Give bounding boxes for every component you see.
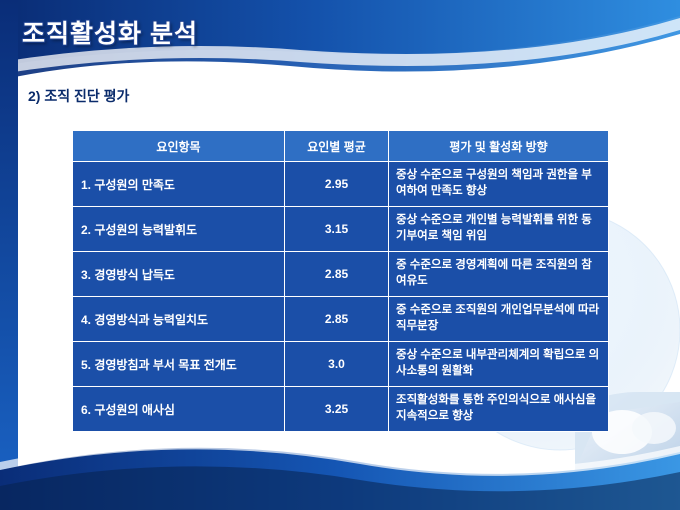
cell-average: 2.85 (285, 297, 389, 342)
table-row: 5. 경영방침과 부서 목표 전개도 3.0 중상 수준으로 내부관리체계의 확… (73, 342, 609, 387)
table-row: 6. 구성원의 애사심 3.25 조직활성화를 통한 주인의식으로 애사심을 지… (73, 387, 609, 432)
cell-direction: 조직활성화를 통한 주인의식으로 애사심을 지속적으로 향상 (389, 387, 609, 432)
table-row: 3. 경영방식 납득도 2.85 중 수준으로 경영계획에 따른 조직원의 참여… (73, 252, 609, 297)
evaluation-table: 요인항목 요인별 평균 평가 및 활성화 방향 1. 구성원의 만족도 2.95… (72, 130, 609, 432)
cell-direction: 중상 수준으로 개인별 능력발휘를 위한 동기부여로 책임 위임 (389, 207, 609, 252)
slide: 조직활성화 분석 2) 조직 진단 평가 요인항목 요인별 평균 평가 및 활성… (0, 0, 680, 510)
table-header-factor: 요인항목 (73, 131, 285, 162)
cell-factor: 5. 경영방침과 부서 목표 전개도 (73, 342, 285, 387)
table-row: 4. 경영방식과 능력일치도 2.85 중 수준으로 조직원의 개인업무분석에 … (73, 297, 609, 342)
cell-direction: 중상 수준으로 내부관리체계의 확립으로 의사소통의 원활화 (389, 342, 609, 387)
table-header-average: 요인별 평균 (285, 131, 389, 162)
page-title: 조직활성화 분석 (22, 14, 198, 50)
cell-factor: 4. 경영방식과 능력일치도 (73, 297, 285, 342)
cell-average: 3.15 (285, 207, 389, 252)
cell-factor: 1. 구성원의 만족도 (73, 162, 285, 207)
section-subtitle: 2) 조직 진단 평가 (28, 86, 129, 106)
cell-factor: 3. 경영방식 납득도 (73, 252, 285, 297)
evaluation-table-wrapper: 요인항목 요인별 평균 평가 및 활성화 방향 1. 구성원의 만족도 2.95… (72, 130, 608, 432)
table-header-direction: 평가 및 활성화 방향 (389, 131, 609, 162)
cell-average: 3.25 (285, 387, 389, 432)
table-row: 1. 구성원의 만족도 2.95 중상 수준으로 구성원의 책임과 권한을 부여… (73, 162, 609, 207)
cell-direction: 중 수준으로 조직원의 개인업무분석에 따라 직무분장 (389, 297, 609, 342)
cell-average: 2.95 (285, 162, 389, 207)
cell-factor: 6. 구성원의 애사심 (73, 387, 285, 432)
cell-average: 2.85 (285, 252, 389, 297)
cell-average: 3.0 (285, 342, 389, 387)
table-row: 2. 구성원의 능력발휘도 3.15 중상 수준으로 개인별 능력발휘를 위한 … (73, 207, 609, 252)
table-header-row: 요인항목 요인별 평균 평가 및 활성화 방향 (73, 131, 609, 162)
cell-direction: 중 수준으로 경영계획에 따른 조직원의 참여유도 (389, 252, 609, 297)
cell-direction: 중상 수준으로 구성원의 책임과 권한을 부여하여 만족도 향상 (389, 162, 609, 207)
cell-factor: 2. 구성원의 능력발휘도 (73, 207, 285, 252)
